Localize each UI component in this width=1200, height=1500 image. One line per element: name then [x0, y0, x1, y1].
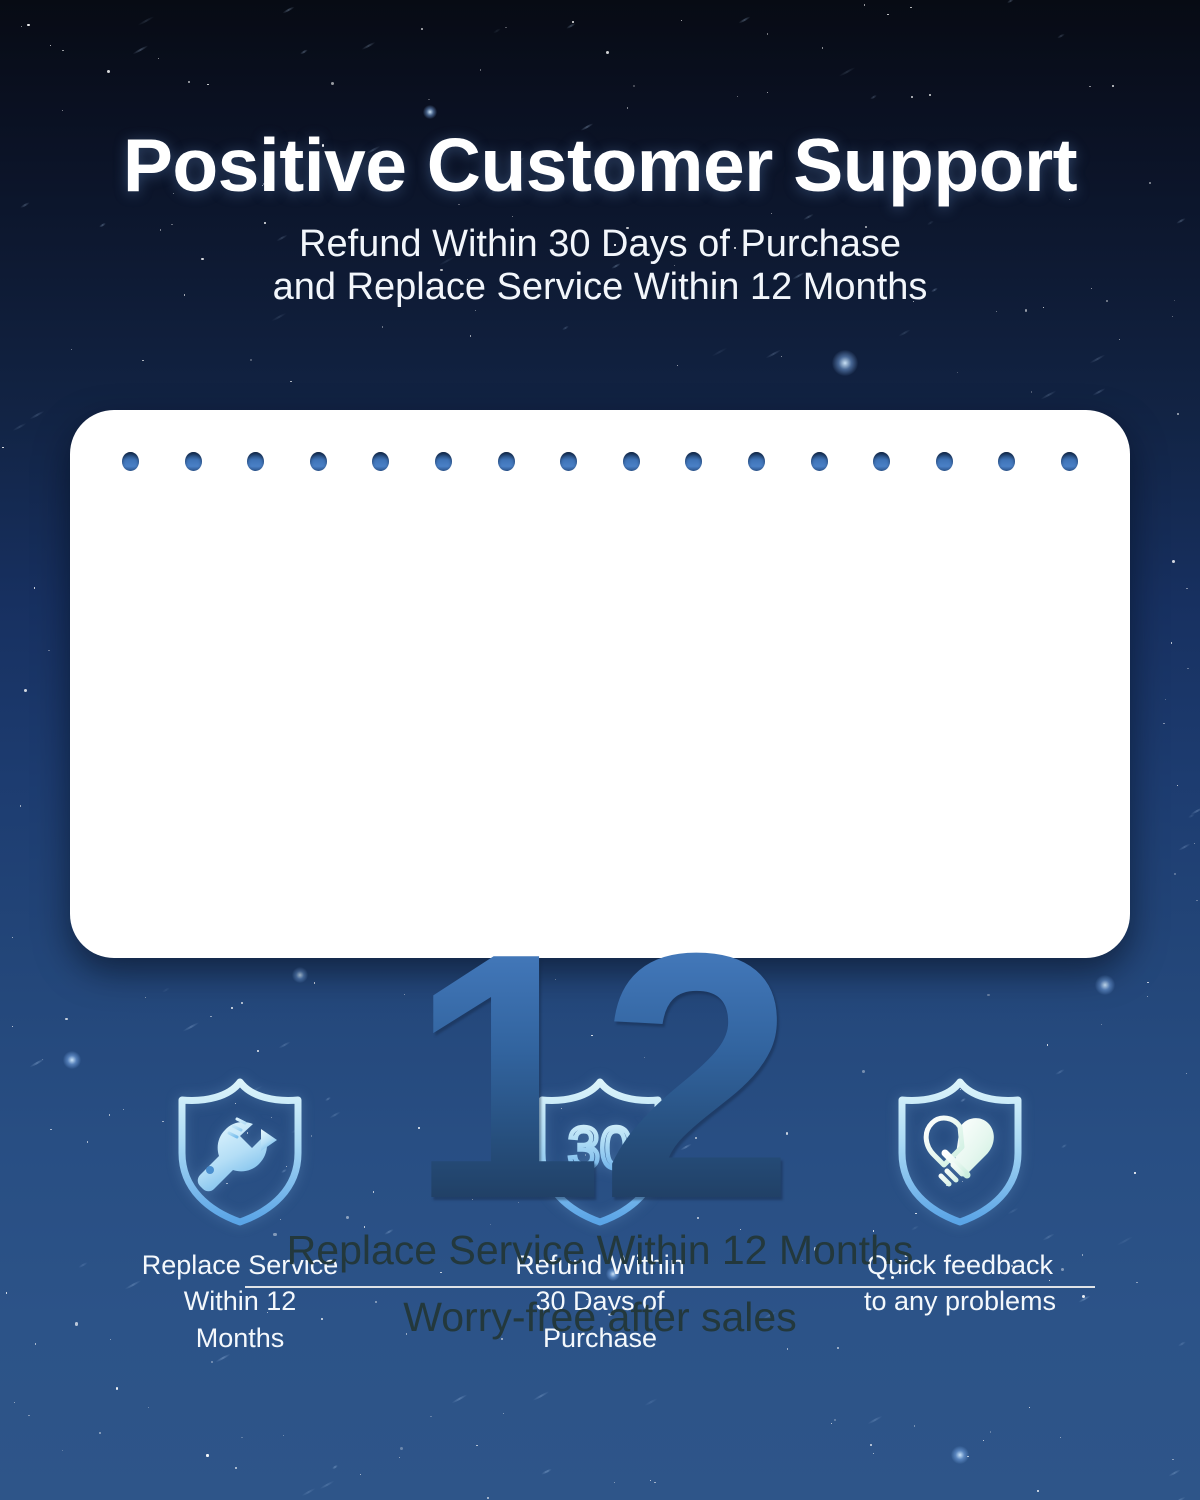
star [476, 1445, 477, 1446]
star [1186, 588, 1187, 589]
star-glow [951, 1446, 969, 1464]
star [650, 1480, 651, 1481]
star [1177, 413, 1179, 415]
warranty-card: 12 Replace Service Within 12 Months Worr… [70, 410, 1130, 958]
binder-hole [435, 452, 452, 471]
star [1031, 391, 1032, 392]
star-streak [533, 1391, 550, 1401]
star [1187, 668, 1188, 669]
star-streak [29, 1058, 44, 1067]
binder-hole [623, 452, 640, 471]
star [677, 365, 678, 366]
star-streak [1090, 354, 1106, 364]
star [1025, 309, 1027, 311]
star-streak [1179, 843, 1192, 851]
star [71, 349, 72, 350]
star [1177, 785, 1178, 786]
star-streak [765, 349, 781, 359]
card-divider [245, 1286, 1095, 1288]
star [996, 311, 997, 312]
star [781, 356, 782, 357]
star [14, 1402, 15, 1403]
star-streak [544, 1468, 552, 1474]
star [48, 650, 49, 651]
star [250, 359, 251, 360]
star [1165, 699, 1166, 700]
star [967, 1456, 968, 1457]
star [24, 689, 27, 692]
star-streak [319, 1480, 334, 1489]
star-streak [867, 1415, 882, 1424]
binder-hole [748, 452, 765, 471]
star [1194, 843, 1195, 844]
star [12, 937, 13, 938]
star-streak [1040, 390, 1056, 400]
star [834, 1419, 836, 1421]
promo-banner: Positive Customer Support Refund Within … [0, 0, 1200, 1500]
subtitle-line-1: Refund Within 30 Days of Purchase [0, 223, 1200, 266]
card-subline: Worry-free after sales [70, 1295, 1130, 1340]
star [12, 1026, 13, 1027]
star [914, 1425, 915, 1426]
star [360, 1474, 361, 1475]
binder-hole [685, 452, 702, 471]
star [487, 1497, 488, 1498]
star-streak [1174, 1496, 1185, 1500]
star [148, 1407, 149, 1408]
binder-hole [122, 452, 139, 471]
star [1171, 642, 1172, 643]
subtitle-line-2: and Replace Service Within 12 Months [0, 266, 1200, 309]
star [1037, 1490, 1038, 1491]
star [1172, 560, 1175, 563]
star [206, 1454, 208, 1456]
binder-hole-row [70, 452, 1130, 474]
card-headline: Replace Service Within 12 Months [70, 1228, 1130, 1273]
page-title: Positive Customer Support [0, 128, 1200, 203]
star-streak [332, 1465, 338, 1470]
star-streak [1092, 388, 1105, 396]
star [20, 805, 21, 806]
star [1163, 723, 1164, 724]
star [1172, 1459, 1173, 1460]
star-glow [832, 350, 858, 376]
star [99, 1432, 101, 1434]
star [1147, 996, 1148, 997]
binder-hole [936, 452, 953, 471]
star [283, 1435, 284, 1436]
star [382, 326, 383, 327]
star-streak [562, 326, 569, 331]
binder-hole [372, 452, 389, 471]
star [211, 1361, 213, 1363]
star-streak [271, 313, 286, 322]
star [1029, 1407, 1030, 1408]
star-streak [301, 1487, 316, 1496]
star [42, 1059, 43, 1060]
star [1174, 873, 1175, 874]
star [430, 1416, 431, 1417]
star-streak [1188, 813, 1195, 818]
star-streak [898, 329, 910, 337]
star [142, 360, 143, 361]
star [116, 1387, 118, 1389]
star [28, 1415, 29, 1416]
star-streak [541, 1469, 550, 1475]
binder-hole [998, 452, 1015, 471]
star [399, 1457, 400, 1458]
star [873, 1453, 874, 1454]
header-subtitle: Refund Within 30 Days of Purchase and Re… [0, 223, 1200, 310]
star [241, 1437, 242, 1438]
star [1172, 316, 1173, 317]
star [65, 1018, 67, 1020]
binder-hole [247, 452, 264, 471]
star [1186, 1073, 1187, 1074]
star-streak [711, 347, 727, 357]
star-streak [644, 1397, 658, 1405]
star [870, 1444, 872, 1446]
star [62, 1450, 63, 1451]
binder-hole [811, 452, 828, 471]
binder-hole [498, 452, 515, 471]
star [1119, 339, 1120, 340]
star [990, 1431, 991, 1432]
star [614, 1482, 615, 1483]
star [831, 1423, 832, 1424]
star-streak [452, 1394, 468, 1404]
binder-hole [873, 452, 890, 471]
star [503, 1413, 504, 1414]
star-streak [1190, 807, 1200, 815]
star [2, 447, 3, 448]
star [400, 1447, 403, 1450]
star [34, 587, 35, 588]
star [1147, 982, 1148, 983]
star [290, 381, 291, 382]
star [983, 1440, 984, 1441]
binder-hole [185, 452, 202, 471]
binder-hole [560, 452, 577, 471]
star [475, 310, 476, 311]
star [470, 335, 471, 336]
header-block: Positive Customer Support Refund Within … [0, 0, 1200, 310]
star [1196, 900, 1197, 901]
star-streak [1169, 1469, 1182, 1477]
star [654, 1482, 655, 1483]
star-streak [29, 410, 44, 419]
star [235, 1467, 236, 1468]
star-streak [12, 422, 26, 431]
binder-hole [310, 452, 327, 471]
star [957, 372, 958, 373]
warranty-months-number: 12 [70, 902, 1130, 1252]
binder-hole [1061, 452, 1078, 471]
star [1060, 1437, 1061, 1438]
